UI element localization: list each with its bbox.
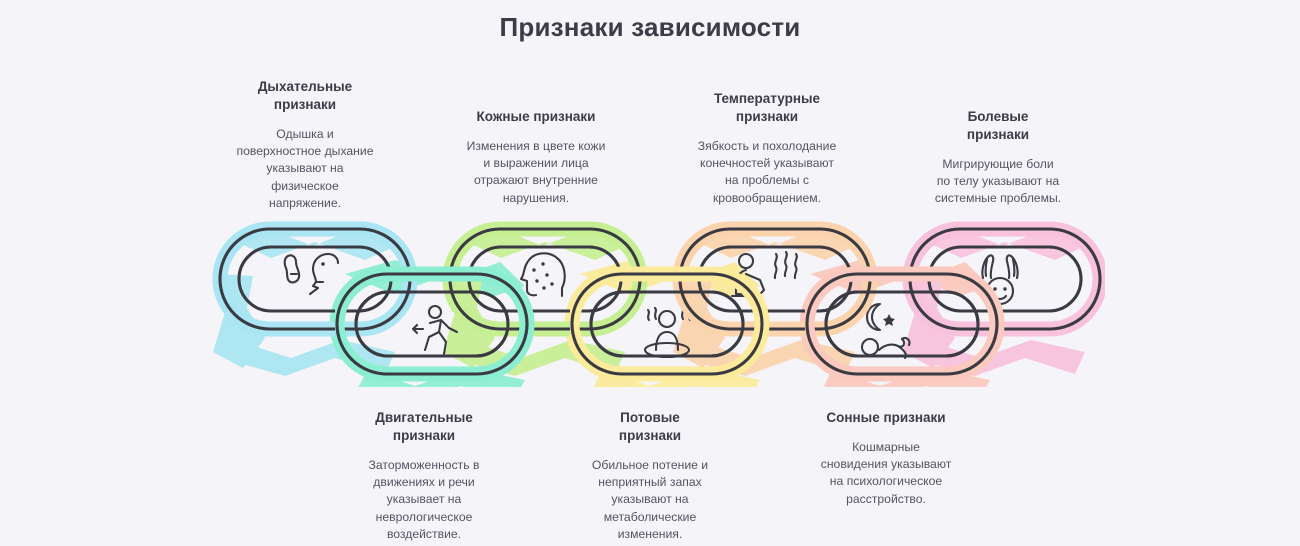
block-title-sleep: Сонные признаки (791, 409, 981, 427)
text-block-sweat: Потовые признаки Обильное потение и непр… (561, 409, 739, 543)
block-desc-pain: Мигрирующие боли по телу указывают на си… (907, 156, 1089, 208)
text-block-motor: Двигательные признаки Заторможенность в … (333, 409, 515, 543)
block-title-pain: Болевые признаки (907, 108, 1089, 144)
block-title-sweat: Потовые признаки (561, 409, 739, 445)
interlock-overlays (337, 274, 997, 374)
text-block-skin: Кожные признаки Изменения в цвете кожи и… (447, 108, 625, 207)
block-desc-temperature: Зябкость и похолодание конечностей указы… (672, 138, 862, 207)
text-block-breathing: Дыхательные признаки Одышка и поверхност… (216, 78, 394, 212)
block-title-breathing: Дыхательные признаки (216, 78, 394, 114)
block-desc-motor: Заторможенность в движениях и речи указы… (333, 457, 515, 544)
infographic-root: Признаки зависимости (0, 0, 1300, 546)
sleeping-person-moon-icon (862, 304, 909, 358)
breathing-head-icon (285, 254, 338, 294)
block-desc-sweat: Обильное потение и неприятный запах указ… (561, 457, 739, 544)
page-title: Признаки зависимости (0, 12, 1300, 43)
block-desc-sleep: Кошмарные сновидения указывают на психол… (791, 439, 981, 508)
block-desc-breathing: Одышка и поверхностное дыхание указывают… (216, 126, 394, 213)
block-title-skin: Кожные признаки (447, 108, 625, 126)
text-block-temperature: Температурные признаки Зябкость и похоло… (672, 90, 862, 207)
block-title-motor: Двигательные признаки (333, 409, 515, 445)
text-block-sleep: Сонные признаки Кошмарные сновидения ука… (791, 409, 981, 508)
block-desc-skin: Изменения в цвете кожи и выражении лица … (447, 138, 625, 207)
block-title-temperature: Температурные признаки (672, 90, 862, 126)
chain-diagram (195, 212, 1105, 387)
text-block-pain: Болевые признаки Мигрирующие боли по тел… (907, 108, 1089, 208)
spotted-face-icon (521, 253, 565, 296)
